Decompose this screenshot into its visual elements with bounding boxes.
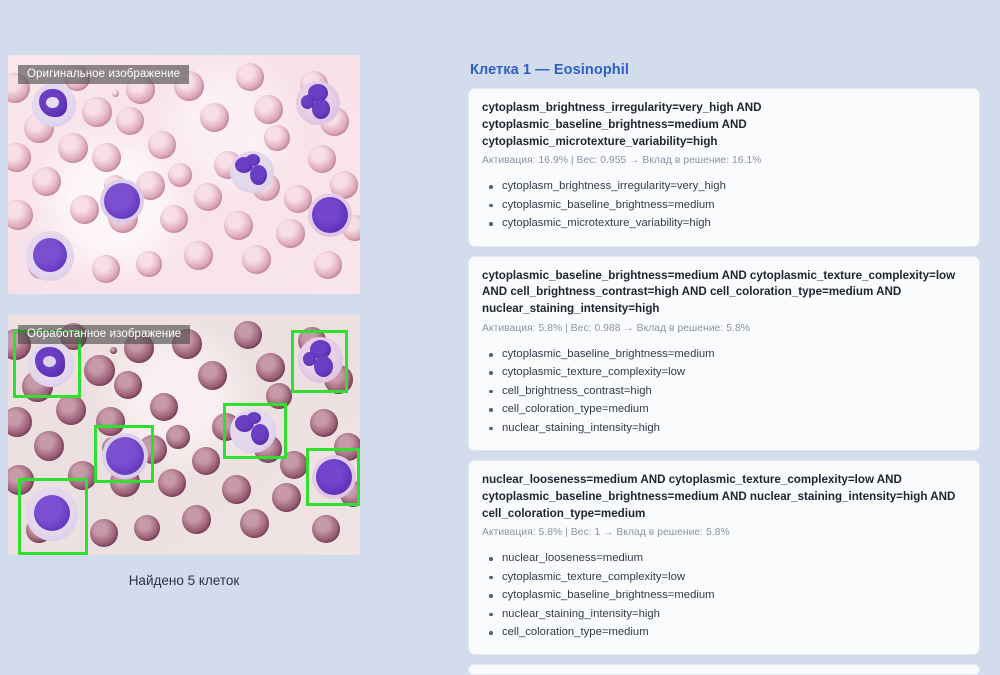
rule-condition-item: nuclear_staining_intensity=high [482,419,966,437]
original-blood-smear-image [8,55,360,294]
detection-box-4[interactable] [223,403,287,459]
rule-card[interactable]: nuclear_looseness=medium AND cytoplasmic… [468,460,980,655]
rule-condition-item: cell_coloration_type=medium [482,400,966,418]
processed-image-frame: Обработанное изображение [8,315,360,555]
rule-conditions-list: cytoplasm_brightness_irregularity=very_h… [482,177,966,232]
rule-condition-item: nuclear_looseness=medium [482,549,966,567]
processed-blood-smear-image [8,315,360,555]
rule-condition-item: cytoplasmic_texture_complexity=low [482,363,966,381]
rule-metrics: Активация: 5.8% | Вес: 0.988 → Вклад в р… [482,323,966,334]
rule-metrics: Активация: 5.8% | Вес: 1 → Вклад в решен… [482,527,966,538]
page-title: Клетка 1 — Eosinophil [470,62,980,78]
rule-expression: nuclear_looseness=medium AND cytoplasmic… [482,472,966,522]
rule-card-clipped[interactable] [468,664,980,675]
rule-conditions-list: nuclear_looseness=mediumcytoplasmic_text… [482,549,966,641]
rule-card[interactable]: cytoplasm_brightness_irregularity=very_h… [468,88,980,247]
original-image-label: Оригинальное изображение [18,65,189,84]
rule-expression: cytoplasmic_baseline_brightness=medium A… [482,268,966,318]
wbc-original-5 [296,81,340,125]
rule-condition-item: nuclear_staining_intensity=high [482,605,966,623]
rule-conditions-list: cytoplasmic_baseline_brightness=mediumcy… [482,345,966,437]
found-cells-caption: Найдено 5 клеток [8,573,360,588]
rule-condition-item: cytoplasmic_microtexture_variability=hig… [482,214,966,232]
rule-metrics: Активация: 16.9% | Вес: 0.955 → Вклад в … [482,155,966,166]
rule-condition-item: cytoplasmic_baseline_brightness=medium [482,196,966,214]
rules-list: cytoplasm_brightness_irregularity=very_h… [468,88,980,655]
detection-box-3[interactable] [18,478,88,555]
rule-condition-item: cytoplasm_brightness_irregularity=very_h… [482,177,966,195]
rule-condition-item: cell_coloration_type=medium [482,623,966,641]
wbc-original-3 [26,231,74,281]
rule-card[interactable]: cytoplasmic_baseline_brightness=medium A… [468,256,980,451]
rules-panel: Клетка 1 — Eosinophil cytoplasm_brightne… [468,62,980,675]
wbc-original-1 [32,83,76,127]
detection-box-5[interactable] [291,330,348,393]
wbc-original-4 [230,151,274,193]
original-image-frame: Оригинальное изображение [8,55,360,294]
processed-image-label: Обработанное изображение [18,325,190,344]
detection-box-2[interactable] [94,425,154,483]
rule-condition-item: cytoplasmic_texture_complexity=low [482,568,966,586]
rule-condition-item: cytoplasmic_baseline_brightness=medium [482,586,966,604]
rule-condition-item: cell_brightness_contrast=high [482,382,966,400]
rule-condition-item: cytoplasmic_baseline_brightness=medium [482,345,966,363]
images-panel: Оригинальное изображение [8,55,360,588]
wbc-original-6 [308,193,352,237]
wbc-original-2 [100,179,144,223]
rule-expression: cytoplasm_brightness_irregularity=very_h… [482,100,966,150]
detection-box-6[interactable] [306,448,360,506]
